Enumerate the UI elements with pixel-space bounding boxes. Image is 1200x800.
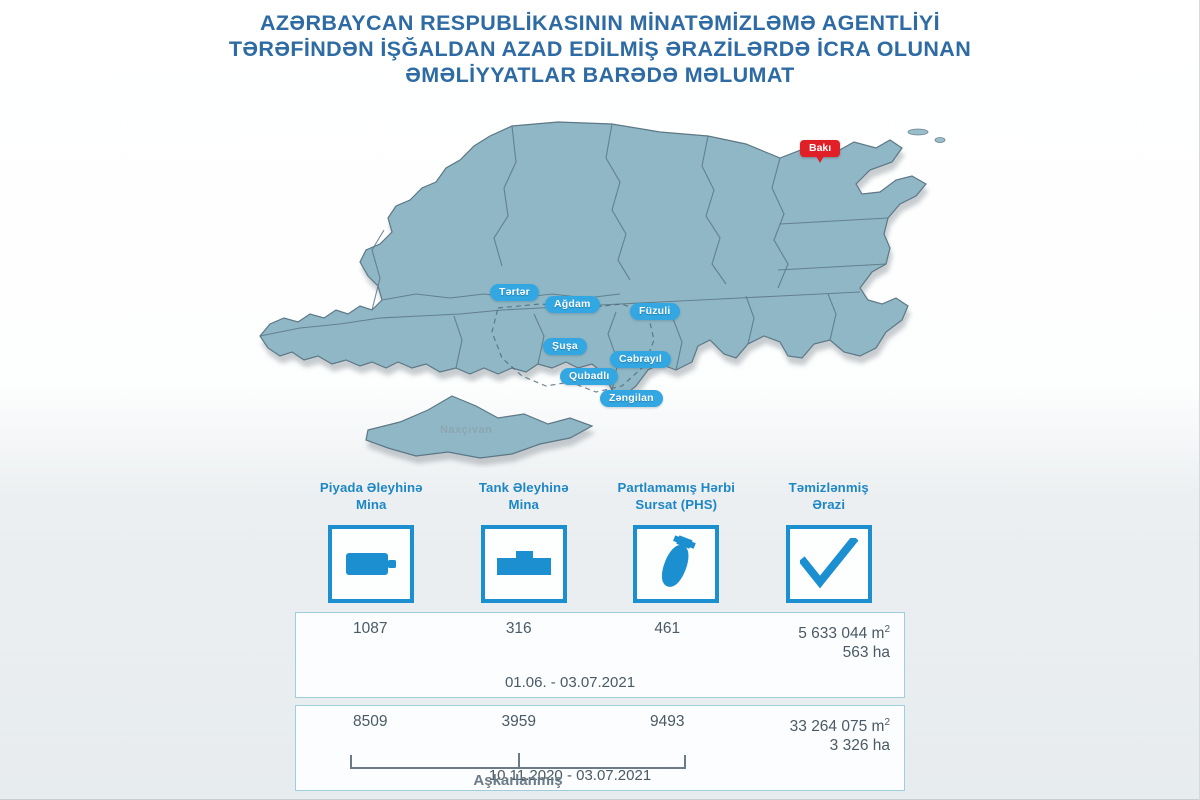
anti-personnel-mine-icon [344,547,398,581]
bracket-tick-right [684,755,686,769]
azerbaijan-map: Bakı Tərtər Ağdam Füzuli Şuşa Cəbrayıl Q… [240,118,960,468]
category-unexploded-ordnance: Partlamamış Hərbi Sursat (PHS) [600,480,753,603]
category-label: Partlamamış Hərbi Sursat (PHS) [600,480,753,516]
map-pin-cebrayil[interactable]: Cəbrayıl [610,351,671,368]
icon-box-cleared-territory [786,525,872,603]
value-cleared-area: 5 633 044 m2 563 ha [742,620,905,662]
title-line-2: TƏRƏFİNDƏN İŞĞALDAN AZAD EDİLMİŞ ƏRAZİLƏ… [0,36,1200,62]
category-cleared-territory: Təmizlənmiş Ərazi [753,480,906,603]
icon-box-unexploded-ordnance [633,525,719,603]
map-pin-label: Zəngilan [609,392,654,404]
map-pin-label: Ağdam [554,298,591,310]
category-label: Tank Əleyhinə Mina [448,480,601,516]
map-pin-label: Füzuli [639,305,671,317]
bracket-tick-center [518,753,520,767]
category-anti-personnel-mine: Piyada Əleyhinə Mina [295,480,448,603]
map-pin-baku-label: Bakı [809,142,831,154]
icon-box-anti-personnel-mine [328,525,414,603]
value-anti-tank-mines: 316 [445,620,594,638]
period-label: 01.06. - 03.07.2021 [296,674,904,691]
category-header-row: Piyada Əleyhinə Mina Tank Əleyhinə Mina [295,480,905,603]
value-anti-personnel-mines: 8509 [296,713,445,731]
value-anti-personnel-mines: 1087 [296,620,445,638]
title-line-1: AZƏRBAYCAN RESPUBLİKASININ MİNATƏMİZLƏMƏ… [0,10,1200,36]
data-row-period-1: 1087 316 461 5 633 044 m2 563 ha 01.06. … [295,612,905,698]
map-pin-label: Tərtər [499,286,530,298]
numbers-row: 8509 3959 9493 33 264 075 m2 3 326 ha [296,713,904,755]
cleared-area-m2: 33 264 075 m [790,718,885,735]
map-pin-qubadli[interactable]: Qubadlı [560,368,618,385]
map-label-naxcivan: Naxçıvan [440,424,492,436]
cleared-area-m2-exponent: 2 [884,717,890,728]
bracket-tick-left [350,755,352,769]
detected-bracket [350,755,686,769]
value-uxo: 9493 [593,713,742,731]
numbers-row: 1087 316 461 5 633 044 m2 563 ha [296,620,904,662]
map-pin-baku[interactable]: Bakı [800,140,840,157]
title-line-3: ƏMƏLİYYATLAR BARƏDƏ MƏLUMAT [0,62,1200,88]
map-pin-label: Qubadlı [569,370,609,382]
value-uxo: 461 [593,620,742,638]
map-pin-fuzuli[interactable]: Füzuli [630,303,680,320]
map-landmass [260,122,926,396]
map-pin-susha[interactable]: Şuşa [543,338,587,355]
bracket-line [350,767,686,769]
statistics-panel: Piyada Əleyhinə Mina Tank Əleyhinə Mina [295,480,905,791]
map-pin-agdam[interactable]: Ağdam [545,296,600,313]
category-anti-tank-mine: Tank Əleyhinə Mina [448,480,601,603]
cleared-area-ha: 3 326 ha [742,736,891,755]
map-svg [240,118,960,468]
cleared-area-ha: 563 ha [742,643,891,662]
check-mark-icon [800,538,858,590]
cleared-area-m2: 5 633 044 m [798,625,884,642]
map-pin-tertər[interactable]: Tərtər [490,284,539,301]
category-label: Təmizlənmiş Ərazi [753,480,906,516]
page-title: AZƏRBAYCAN RESPUBLİKASININ MİNATƏMİZLƏMƏ… [0,10,1200,88]
anti-tank-mine-icon [495,547,553,581]
map-pin-label: Cəbrayıl [619,353,662,365]
infographic-root: AZƏRBAYCAN RESPUBLİKASININ MİNATƏMİZLƏMƏ… [0,0,1200,800]
map-caspian-islands [908,129,945,143]
map-pin-label: Şuşa [552,340,578,352]
cleared-area-m2-exponent: 2 [884,624,890,635]
value-anti-tank-mines: 3959 [445,713,594,731]
value-cleared-area: 33 264 075 m2 3 326 ha [742,713,905,755]
category-label: Piyada Əleyhinə Mina [295,480,448,516]
unexploded-ordnance-icon [652,534,700,594]
detected-label: Aşkarlanmış [350,772,686,789]
map-pin-zengilan[interactable]: Zəngilan [600,390,663,407]
icon-box-anti-tank-mine [481,525,567,603]
